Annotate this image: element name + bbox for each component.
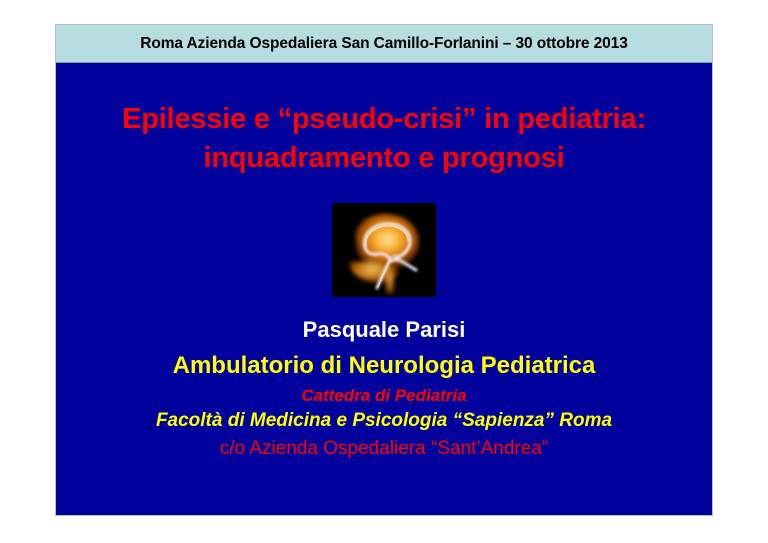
credit-faculty: Facoltà di Medicina e Psicologia “Sapien… bbox=[56, 409, 712, 434]
presentation-slide: Roma Azienda Ospedaliera San Camillo-For… bbox=[55, 24, 713, 516]
header-title: Roma Azienda Ospedaliera San Camillo-For… bbox=[140, 35, 627, 53]
credit-author: Pasquale Parisi bbox=[56, 316, 712, 345]
page-title: Epilessie e “pseudo-crisi” in pediatria:… bbox=[56, 64, 712, 177]
slide-body: Epilessie e “pseudo-crisi” in pediatria:… bbox=[56, 64, 712, 515]
credits-block: Pasquale Parisi Ambulatorio di Neurologi… bbox=[56, 316, 712, 461]
page-title-line-1: Epilessie e “pseudo-crisi” in pediatria: bbox=[74, 100, 694, 139]
page-title-line-2: inquadramento e prognosi bbox=[74, 139, 694, 178]
brain-icon bbox=[332, 203, 436, 297]
brain-sagittal-ventricles-image bbox=[332, 203, 436, 297]
credit-department: Ambulatorio di Neurologia Pediatrica bbox=[56, 350, 712, 381]
slide-header-band: Roma Azienda Ospedaliera San Camillo-For… bbox=[56, 25, 712, 63]
credit-affiliation: c/o Azienda Ospedaliera “Sant’Andrea” bbox=[56, 437, 712, 462]
credit-chair: Cattedra di Pediatria bbox=[56, 385, 712, 407]
